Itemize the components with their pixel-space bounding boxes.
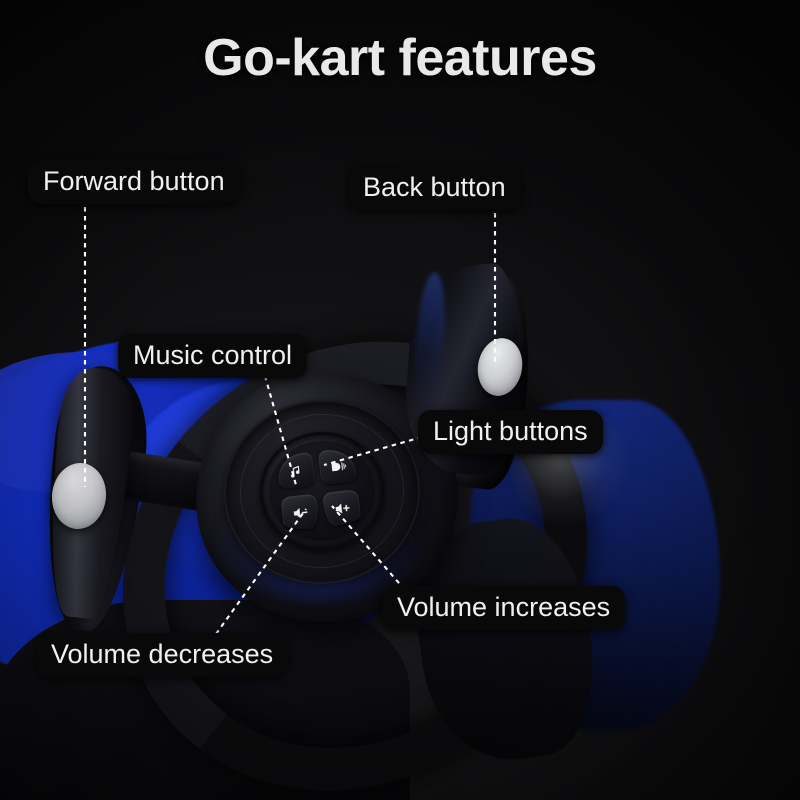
music-control-button[interactable] bbox=[276, 452, 315, 490]
annotation-label-volume-increases: Volume increases bbox=[382, 586, 625, 630]
screenshot-root: Go-kart features Forward button Back but… bbox=[0, 0, 800, 800]
speaker-plus-icon bbox=[333, 499, 352, 518]
page-title: Go-kart features bbox=[0, 28, 800, 88]
control-pad-face bbox=[264, 436, 380, 547]
volume-increase-button[interactable] bbox=[322, 489, 361, 527]
annotation-label-music-control: Music control bbox=[118, 334, 307, 378]
go-kart-photo bbox=[0, 0, 800, 800]
volume-decrease-button[interactable] bbox=[280, 494, 319, 532]
annotation-label-forward-button: Forward button bbox=[28, 160, 240, 204]
speaker-minus-icon bbox=[291, 503, 310, 522]
annotation-label-volume-decreases: Volume decreases bbox=[36, 633, 288, 677]
annotation-label-back-button: Back button bbox=[348, 166, 521, 210]
annotation-label-light-buttons: Light buttons bbox=[418, 410, 603, 454]
headlight-icon bbox=[328, 457, 347, 476]
light-buttons-button[interactable] bbox=[318, 447, 357, 485]
music-note-icon bbox=[286, 461, 305, 480]
